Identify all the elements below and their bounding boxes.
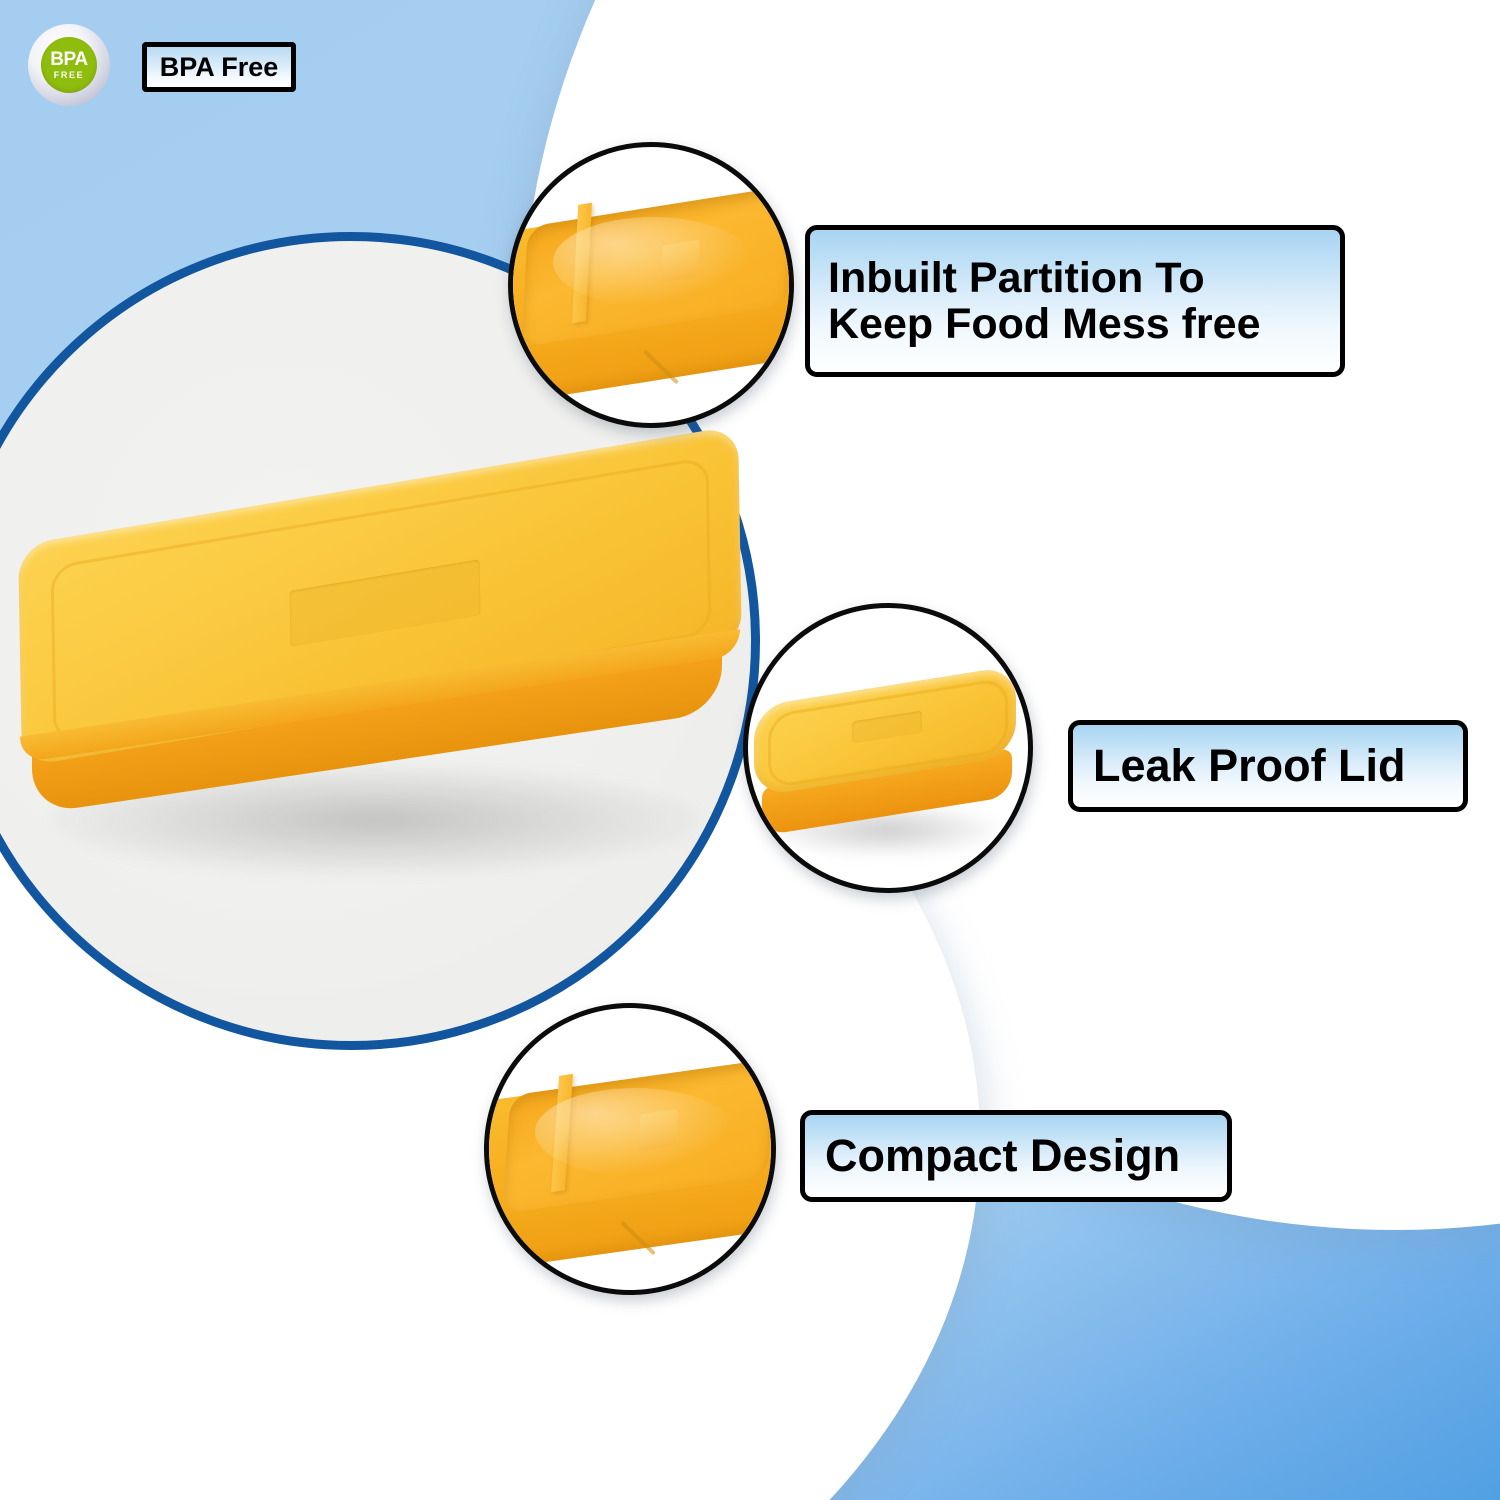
callout-box-inbuilt-partition: Inbuilt Partition To Keep Food Mess free	[805, 225, 1345, 377]
product-infographic: Inbuilt Partition To Keep Food Mess free…	[0, 0, 1500, 1500]
callout-box-leak-proof-lid: Leak Proof Lid	[1068, 720, 1468, 812]
hero-product-lunchbox	[10, 455, 770, 885]
bpa-seal-line-1: BPA	[50, 50, 88, 69]
inset-leak-proof-lid	[743, 603, 1033, 893]
bpa-free-label-text: BPA Free	[160, 52, 279, 83]
inset-compact-design	[484, 1003, 776, 1295]
callout-line-1: Inbuilt Partition To	[828, 255, 1322, 301]
inset-inbuilt-partition	[508, 142, 794, 428]
callout-line-2: Keep Food Mess free	[828, 301, 1322, 347]
bpa-free-seal-icon: BPA FREE	[28, 24, 110, 106]
callout-text-leak-proof-lid: Leak Proof Lid	[1093, 742, 1443, 791]
bpa-seal-line-2: FREE	[54, 71, 84, 80]
callout-text-compact-design: Compact Design	[825, 1132, 1207, 1181]
bpa-free-label-chip: BPA Free	[142, 42, 296, 92]
callout-box-compact-design: Compact Design	[800, 1110, 1232, 1202]
callout-text-inbuilt-partition: Inbuilt Partition To Keep Food Mess free	[828, 255, 1322, 348]
